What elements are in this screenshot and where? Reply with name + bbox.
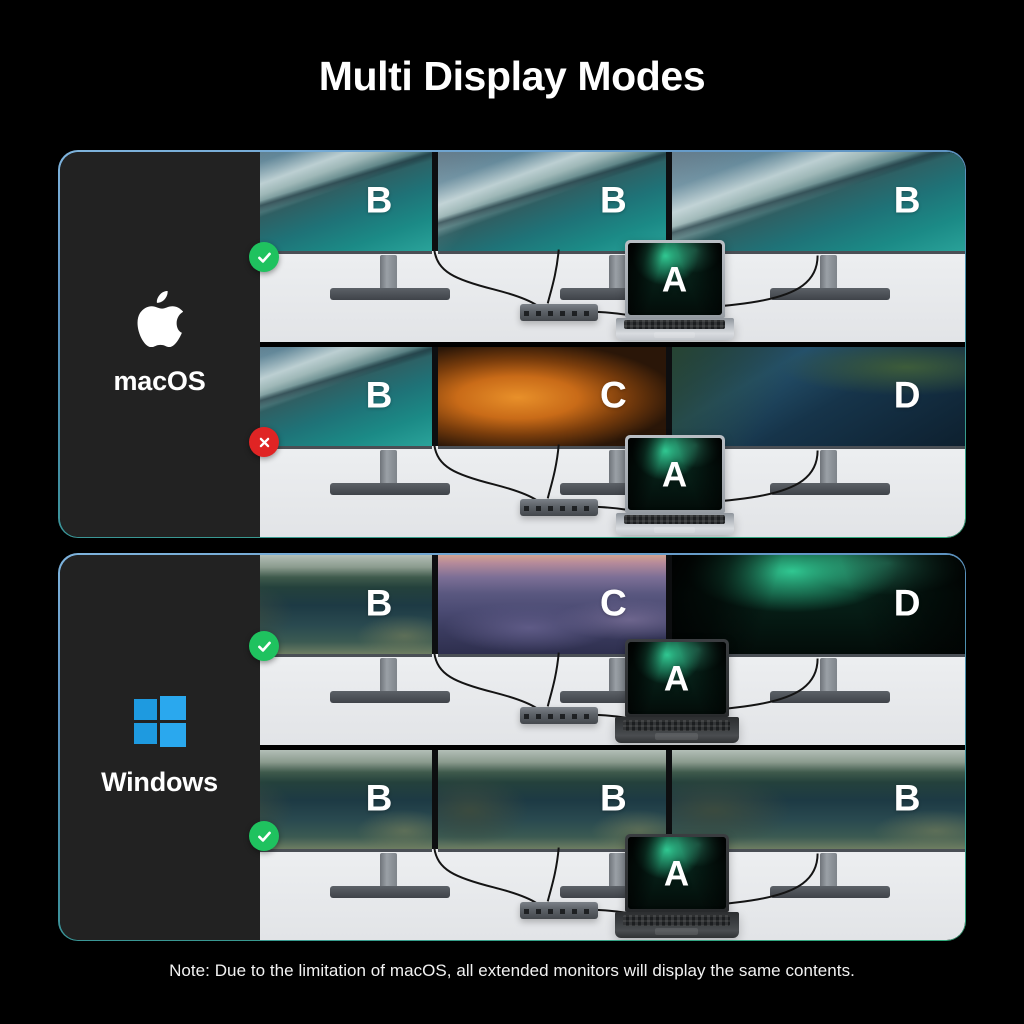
wallpaper <box>260 555 432 654</box>
monitor-1: B <box>260 345 432 449</box>
check-icon <box>256 828 273 845</box>
monitor-neck <box>380 450 397 487</box>
dock-ports <box>524 506 593 511</box>
monitor-2: C <box>438 345 666 449</box>
monitor-label: B <box>600 182 627 219</box>
wallpaper <box>260 152 432 251</box>
scene-row-macos-mirror: B B <box>260 152 965 342</box>
monitor-neck <box>380 658 397 695</box>
monitor-2: B <box>438 152 666 254</box>
laptop-screen: A <box>628 243 722 315</box>
monitor-base <box>770 886 890 898</box>
monitor-label: B <box>894 780 921 817</box>
docking-station <box>520 304 598 321</box>
dock-ports <box>524 311 593 316</box>
wallpaper <box>260 345 432 446</box>
laptop-macbook: A <box>625 435 725 535</box>
monitor-neck <box>609 658 626 695</box>
monitor-screen: B <box>260 345 432 449</box>
monitor-base <box>330 483 450 495</box>
scene-row-windows-mirror: B B <box>260 745 965 940</box>
footer-note: Note: Due to the limitation of macOS, al… <box>0 961 1024 981</box>
status-badge-supported <box>249 631 279 661</box>
apple-logo-icon <box>137 291 183 352</box>
monitor-neck <box>609 853 626 890</box>
os-panel-windows: Windows <box>60 555 260 940</box>
monitor-neck <box>609 450 626 487</box>
monitor-base <box>770 288 890 300</box>
monitor-label: C <box>600 377 627 414</box>
docking-station <box>520 707 598 724</box>
monitor-label: C <box>600 585 627 622</box>
monitor-screen: B <box>260 555 432 657</box>
page-title: Multi Display Modes <box>0 53 1024 100</box>
os-card-windows: Windows B <box>58 553 966 941</box>
monitor-base <box>330 886 450 898</box>
monitor-screen: D <box>672 345 965 449</box>
monitor-1: B <box>260 555 432 657</box>
monitor-3: D <box>672 345 965 449</box>
scene-row-windows-extend: B C <box>260 555 965 745</box>
monitor-neck <box>820 658 837 695</box>
wallpaper <box>438 345 666 446</box>
monitor-neck <box>820 450 837 487</box>
docking-station <box>520 499 598 516</box>
monitor-screen: B <box>438 152 666 254</box>
laptop-keyboard <box>623 720 730 731</box>
monitor-base <box>330 288 450 300</box>
monitor-neck <box>380 255 397 292</box>
check-icon <box>256 249 273 266</box>
laptop-trackpad <box>655 733 697 740</box>
monitor-screen: B <box>260 152 432 254</box>
laptop-label: A <box>664 661 689 696</box>
laptop-keyboard <box>623 915 730 926</box>
os-panel-macos: macOS <box>60 152 260 537</box>
monitor-screen: B <box>672 152 965 254</box>
monitor-label: B <box>366 585 393 622</box>
os-label-windows: Windows <box>101 767 218 798</box>
os-label-macos: macOS <box>113 366 205 397</box>
monitor-label: B <box>366 780 393 817</box>
monitor-screen: C <box>438 345 666 449</box>
monitor-base <box>330 691 450 703</box>
monitor-label: B <box>894 182 921 219</box>
laptop-label: A <box>662 457 687 492</box>
monitor-base <box>770 483 890 495</box>
monitor-3: B <box>672 152 965 254</box>
check-icon <box>256 638 273 655</box>
status-badge-supported <box>249 821 279 851</box>
scene-row-macos-extend: B C <box>260 342 965 537</box>
docking-station <box>520 902 598 919</box>
wallpaper <box>438 152 666 251</box>
laptop-keyboard <box>624 515 726 524</box>
monitor-label: B <box>366 377 393 414</box>
laptop-trackpad <box>654 527 694 533</box>
cross-icon <box>257 435 272 450</box>
monitor-neck <box>820 853 837 890</box>
monitor-neck <box>609 255 626 292</box>
status-badge-not-supported <box>249 427 279 457</box>
scene-stack-macos: B B <box>260 152 965 537</box>
monitor-label: B <box>600 780 627 817</box>
laptop-trackpad <box>654 332 694 338</box>
windows-logo-icon <box>134 696 186 753</box>
laptop-screen: A <box>628 438 722 510</box>
monitor-1: B <box>260 748 432 852</box>
status-badge-supported <box>249 242 279 272</box>
wallpaper <box>260 748 432 849</box>
os-card-macos: macOS <box>58 150 966 538</box>
laptop-windows: A <box>625 834 729 938</box>
monitor-neck <box>380 853 397 890</box>
laptop-label: A <box>664 856 689 891</box>
monitor-label: B <box>366 182 393 219</box>
laptop-windows: A <box>625 639 729 743</box>
multi-display-modes-page: Multi Display Modes macOS <box>0 0 1024 1024</box>
monitor-neck <box>820 255 837 292</box>
laptop-keyboard <box>624 320 726 329</box>
laptop-label: A <box>662 262 687 297</box>
monitor-label: D <box>894 585 921 622</box>
dock-ports <box>524 909 593 914</box>
monitor-screen: B <box>260 748 432 852</box>
laptop-screen: A <box>628 642 726 714</box>
monitor-label: D <box>894 377 921 414</box>
dock-ports <box>524 714 593 719</box>
laptop-trackpad <box>655 928 697 935</box>
monitor-base <box>770 691 890 703</box>
laptop-macbook: A <box>625 240 725 340</box>
scene-stack-windows: B C <box>260 555 965 940</box>
monitor-1: B <box>260 152 432 254</box>
laptop-screen: A <box>628 837 726 909</box>
